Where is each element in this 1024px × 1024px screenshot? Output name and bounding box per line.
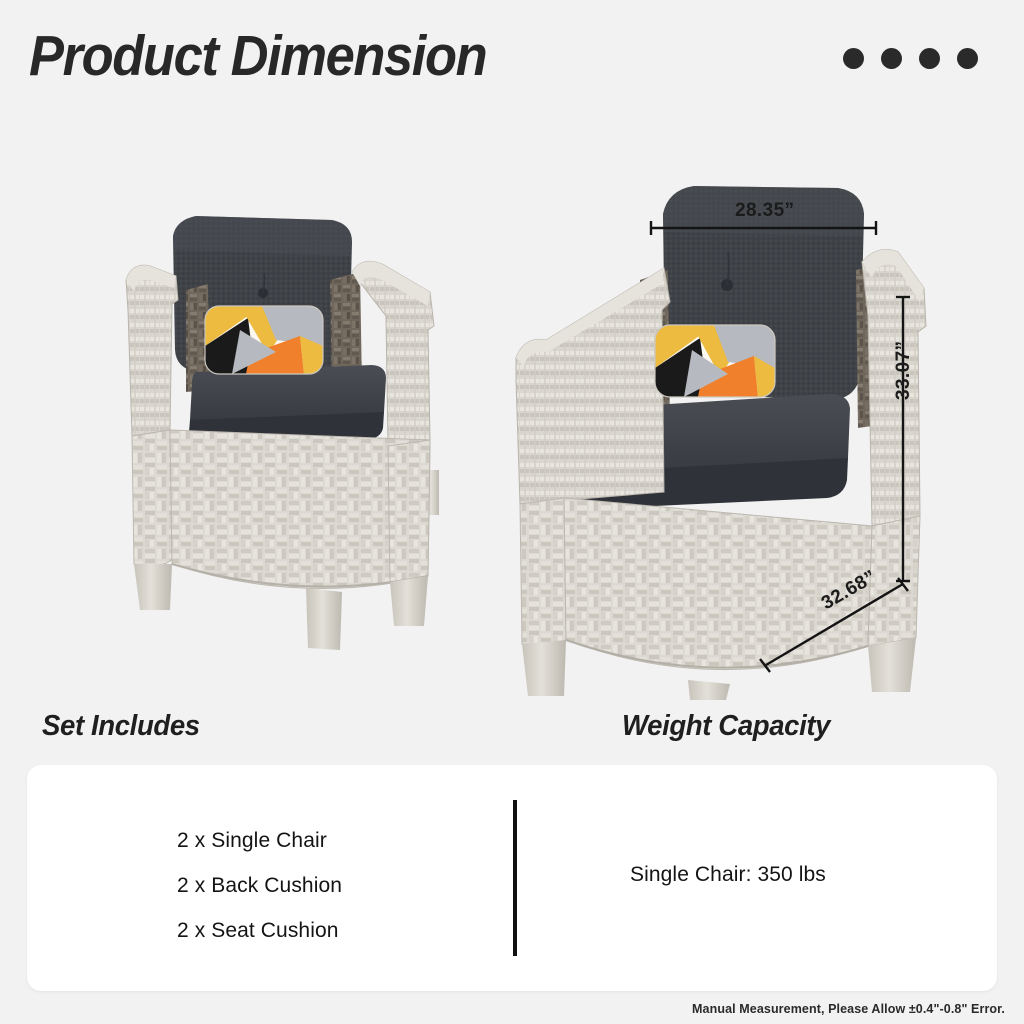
dot-icon	[843, 48, 864, 69]
weight-capacity-heading: Weight Capacity	[622, 710, 830, 743]
accent-pillow-left	[205, 306, 323, 374]
accent-pillow-right	[655, 325, 775, 397]
front-panel-right-chair	[564, 498, 872, 670]
decorative-dots	[843, 48, 978, 69]
leg-center	[306, 588, 342, 650]
chair-right	[516, 186, 926, 700]
info-card: 2 x Single Chair 2 x Back Cushion 2 x Se…	[27, 765, 997, 991]
list-item: 2 x Single Chair	[177, 829, 342, 853]
infographic-page: Product Dimension	[0, 0, 1024, 1024]
list-item: 2 x Back Cushion	[177, 874, 342, 898]
dot-icon	[881, 48, 902, 69]
dimension-label-height: 33.07”	[893, 341, 915, 400]
vertical-divider	[513, 800, 517, 956]
set-includes-heading: Set Includes	[42, 710, 200, 743]
measurement-disclaimer: Manual Measurement, Please Allow ±0.4"-0…	[692, 1002, 1005, 1016]
list-item: 2 x Seat Cushion	[177, 919, 342, 943]
leg-front-right	[868, 638, 916, 692]
dot-icon	[957, 48, 978, 69]
leg-front-left	[522, 640, 566, 696]
leg-front-right	[390, 576, 428, 626]
arm-left	[516, 268, 670, 504]
set-includes-list: 2 x Single Chair 2 x Back Cushion 2 x Se…	[137, 829, 342, 964]
dot-icon	[919, 48, 940, 69]
leg-center	[688, 680, 730, 700]
product-stage	[0, 140, 1024, 700]
chair-left	[126, 216, 439, 650]
leg-front-left	[134, 564, 172, 610]
page-title: Product Dimension	[29, 28, 486, 85]
weight-capacity-value: Single Chair: 350 lbs	[630, 863, 826, 887]
dimension-label-width: 28.35”	[735, 200, 794, 222]
product-illustration	[0, 140, 1024, 700]
